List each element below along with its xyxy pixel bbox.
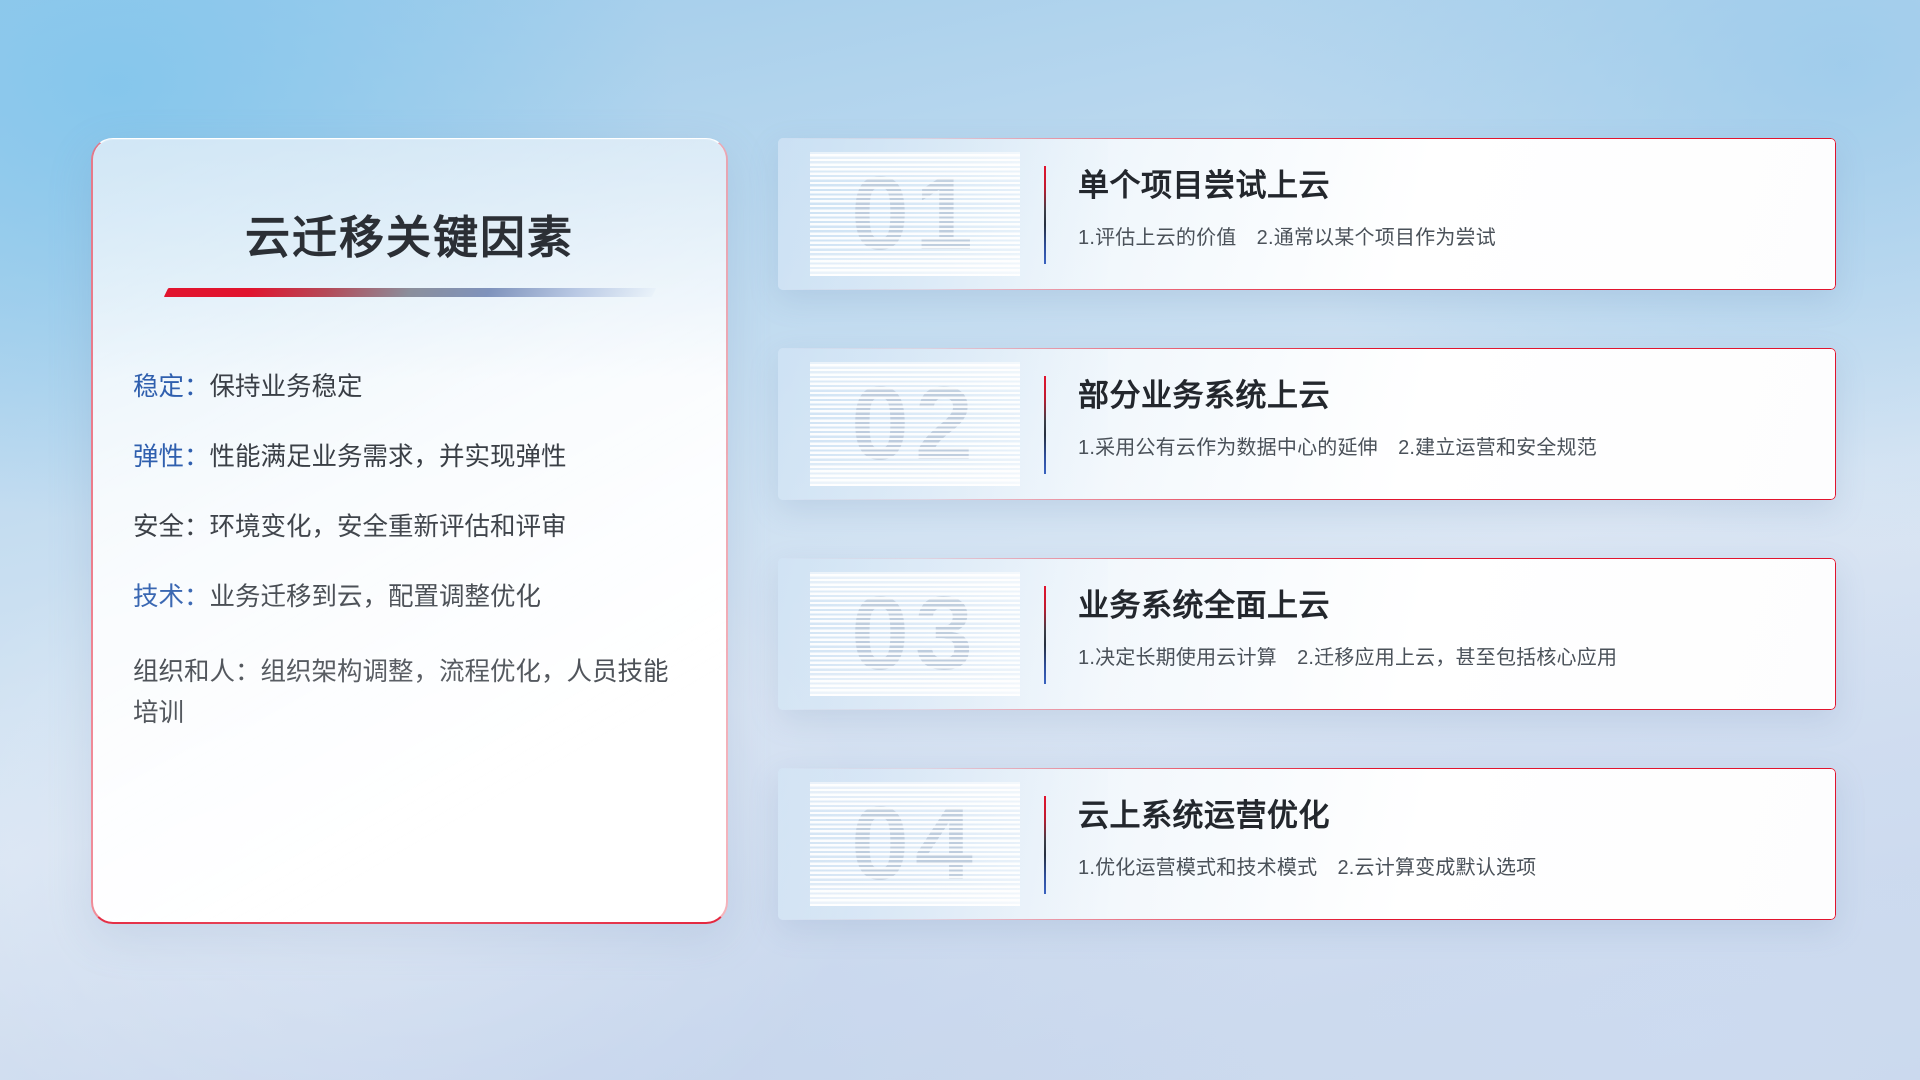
stage-number-graphic: 03 [810, 572, 1020, 696]
stage-number: 01 [810, 152, 1020, 276]
card-divider-bar [1044, 376, 1046, 474]
stage-number: 04 [810, 782, 1020, 906]
factor-text: 性能满足业务需求，并实现弹性 [210, 443, 567, 471]
stage-number-graphic: 04 [810, 782, 1020, 906]
slide-canvas: 云迁移关键因素 稳定：保持业务稳定 弹性：性能满足业务需求，并实现弹性 安全：环… [0, 0, 1920, 1080]
card-divider-bar [1044, 166, 1046, 264]
factor-label: 弹性： [133, 443, 210, 471]
card-description: 1.评估上云的价值 2.通常以某个项目作为尝试 [1078, 221, 1810, 250]
card-title: 部分业务系统上云 [1078, 370, 1810, 415]
card-description: 1.决定长期使用云计算 2.迁移应用上云，甚至包括核心应用 [1078, 641, 1810, 670]
card-title: 单个项目尝试上云 [1078, 160, 1810, 205]
factor-label: 安全： [133, 513, 210, 541]
stage-card-03[interactable]: 03 业务系统全面上云 1.决定长期使用云计算 2.迁移应用上云，甚至包括核心应… [778, 558, 1836, 710]
stage-number: 02 [810, 362, 1020, 486]
card-title: 业务系统全面上云 [1078, 580, 1810, 625]
factor-item-technology: 技术：业务迁移到云，配置调整优化 [133, 581, 688, 614]
stage-card-01[interactable]: 01 单个项目尝试上云 1.评估上云的价值 2.通常以某个项目作为尝试 [778, 138, 1836, 290]
card-divider-bar [1044, 796, 1046, 894]
stage-card-02[interactable]: 02 部分业务系统上云 1.采用公有云作为数据中心的延伸 2.建立运营和安全规范 [778, 348, 1836, 500]
card-description: 1.采用公有云作为数据中心的延伸 2.建立运营和安全规范 [1078, 431, 1810, 460]
factor-item-security: 安全：环境变化，安全重新评估和评审 [133, 511, 688, 544]
stage-card-04[interactable]: 04 云上系统运营优化 1.优化运营模式和技术模式 2.云计算变成默认选项 [778, 768, 1836, 920]
stage-number-graphic: 02 [810, 362, 1020, 486]
factor-label: 技术： [133, 583, 210, 611]
factor-item-stability: 稳定：保持业务稳定 [133, 371, 688, 404]
migration-stage-card-list: 01 单个项目尝试上云 1.评估上云的价值 2.通常以某个项目作为尝试 02 部… [778, 138, 1836, 920]
factor-text: 业务迁移到云，配置调整优化 [210, 583, 542, 611]
factor-text: 环境变化，安全重新评估和评审 [210, 513, 567, 541]
card-title: 云上系统运营优化 [1078, 790, 1810, 835]
card-divider-bar [1044, 586, 1046, 684]
card-body: 业务系统全面上云 1.决定长期使用云计算 2.迁移应用上云，甚至包括核心应用 [1078, 580, 1810, 670]
factor-item-organization-people: 组织和人：组织架构调整，流程优化，人员技能培训 [133, 652, 688, 735]
stage-number-graphic: 01 [810, 152, 1020, 276]
stage-number: 03 [810, 572, 1020, 696]
key-factors-panel: 云迁移关键因素 稳定：保持业务稳定 弹性：性能满足业务需求，并实现弹性 安全：环… [91, 138, 728, 924]
page-title: 云迁移关键因素 [93, 201, 726, 266]
card-description: 1.优化运营模式和技术模式 2.云计算变成默认选项 [1078, 851, 1810, 880]
card-body: 部分业务系统上云 1.采用公有云作为数据中心的延伸 2.建立运营和安全规范 [1078, 370, 1810, 460]
card-body: 单个项目尝试上云 1.评估上云的价值 2.通常以某个项目作为尝试 [1078, 160, 1810, 250]
factor-label: 组织和人： [133, 658, 261, 686]
title-underline-accent [163, 288, 655, 297]
factor-label: 稳定： [133, 373, 210, 401]
factor-item-elasticity: 弹性：性能满足业务需求，并实现弹性 [133, 441, 688, 474]
card-body: 云上系统运营优化 1.优化运营模式和技术模式 2.云计算变成默认选项 [1078, 790, 1810, 880]
factor-list: 稳定：保持业务稳定 弹性：性能满足业务需求，并实现弹性 安全：环境变化，安全重新… [93, 371, 726, 734]
factor-text: 保持业务稳定 [210, 373, 363, 401]
